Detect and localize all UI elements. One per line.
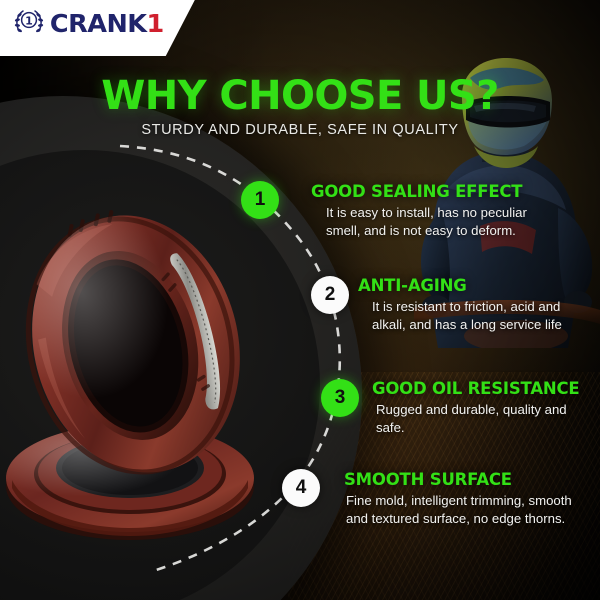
- feature-desc-1: It is easy to install, has no peculiar s…: [311, 204, 543, 239]
- feature-badge-4[interactable]: 4: [282, 469, 320, 507]
- laurel-wreath-number-one-icon: 1: [12, 6, 46, 40]
- feature-title-3: GOOD OIL RESISTANCE: [372, 379, 594, 398]
- brand-logo-banner[interactable]: 1 CRANK1: [0, 0, 200, 56]
- feature-badge-3[interactable]: 3: [321, 379, 359, 417]
- feature-badge-1[interactable]: 1: [241, 181, 279, 219]
- brand-name: CRANK1: [50, 11, 164, 36]
- feature-item-3: GOOD OIL RESISTANCE Rugged and durable, …: [372, 379, 594, 436]
- oil-seal-pair-photo: [2, 196, 270, 556]
- feature-badge-2[interactable]: 2: [311, 276, 349, 314]
- feature-item-2: ANTI-AGING It is resistant to friction, …: [358, 276, 588, 333]
- why-choose-us-infographic: 1 CRANK1 WHY CHOOSE US? STURDY AND DURAB…: [0, 0, 600, 600]
- feature-badge-number-3: 3: [335, 387, 346, 409]
- page-subtitle: STURDY AND DURABLE, SAFE IN QUALITY: [0, 122, 600, 138]
- feature-title-2: ANTI-AGING: [358, 276, 588, 295]
- brand-name-main: CRANK: [50, 9, 147, 38]
- svg-text:1: 1: [25, 14, 33, 27]
- feature-item-4: SMOOTH SURFACE Fine mold, intelligent tr…: [344, 470, 592, 527]
- feature-badge-number-1: 1: [255, 189, 266, 211]
- feature-desc-2: It is resistant to friction, acid and al…: [358, 298, 588, 333]
- feature-title-4: SMOOTH SURFACE: [344, 470, 592, 489]
- feature-desc-4: Fine mold, intelligent trimming, smooth …: [344, 492, 592, 527]
- feature-item-1: GOOD SEALING EFFECT It is easy to instal…: [311, 182, 543, 239]
- feature-badge-number-4: 4: [296, 477, 307, 499]
- feature-badge-number-2: 2: [325, 284, 336, 306]
- page-title: WHY CHOOSE US?: [0, 76, 600, 116]
- feature-desc-3: Rugged and durable, quality and safe.: [372, 401, 594, 436]
- feature-title-1: GOOD SEALING EFFECT: [311, 182, 543, 201]
- brand-name-suffix: 1: [147, 9, 164, 38]
